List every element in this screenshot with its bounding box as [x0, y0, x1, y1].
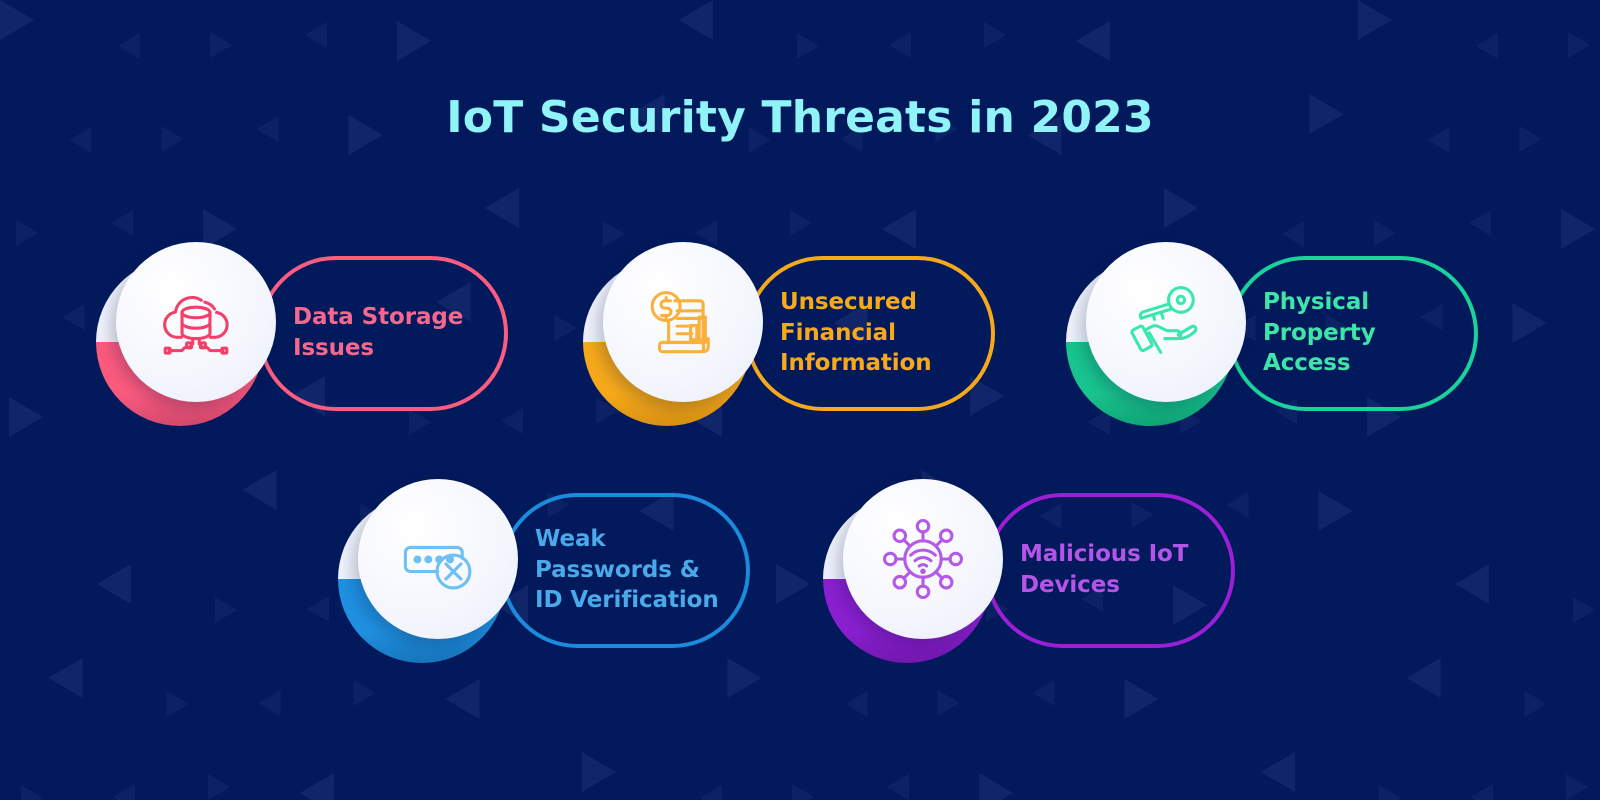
threat-card-icon-badge[interactable]	[116, 242, 276, 402]
threat-card-label-line: Malicious IoT	[1020, 539, 1220, 570]
hand-key-icon	[1119, 275, 1213, 369]
threat-card-physical-property-access[interactable]: PhysicalPropertyAccess	[1058, 238, 1478, 428]
threat-card-label-line: Property	[1263, 318, 1463, 349]
threat-card-label: Data StorageIssues	[293, 238, 493, 428]
threat-card-icon-badge[interactable]	[603, 242, 763, 402]
threat-card-icon-badge[interactable]	[358, 479, 518, 639]
threat-card-label: WeakPasswords &ID Verification	[535, 475, 735, 665]
threat-card-label-line: Devices	[1020, 570, 1220, 601]
threat-card-label-line: Access	[1263, 348, 1463, 379]
threat-card-label-line: Weak	[535, 524, 735, 555]
threat-card-label-line: Financial	[780, 318, 980, 349]
threat-card-label-line: Unsecured	[780, 287, 980, 318]
threat-card-unsecured-financial-information[interactable]: UnsecuredFinancialInformation	[575, 238, 995, 428]
threat-card-label-line: Issues	[293, 333, 493, 364]
threat-card-data-storage-issues[interactable]: Data StorageIssues	[88, 238, 508, 428]
iot-network-virus-icon	[876, 512, 970, 606]
dollar-document-chart-icon	[636, 275, 730, 369]
threat-card-label: UnsecuredFinancialInformation	[780, 238, 980, 428]
threat-card-weak-passwords-id-verification[interactable]: WeakPasswords &ID Verification	[330, 475, 750, 665]
threat-card-label-line: Passwords &	[535, 555, 735, 586]
threat-card-label: Malicious IoTDevices	[1020, 475, 1220, 665]
threat-card-label: PhysicalPropertyAccess	[1263, 238, 1463, 428]
threat-card-malicious-iot-devices[interactable]: Malicious IoTDevices	[815, 475, 1235, 665]
cloud-database-icon	[149, 275, 243, 369]
threat-card-label-line: Data Storage	[293, 302, 493, 333]
page-title: IoT Security Threats in 2023	[0, 92, 1600, 143]
threat-card-label-line: Physical	[1263, 287, 1463, 318]
threat-card-icon-badge[interactable]	[1086, 242, 1246, 402]
threat-card-label-line: ID Verification	[535, 585, 735, 616]
password-denied-icon	[391, 512, 485, 606]
threat-card-label-line: Information	[780, 348, 980, 379]
threat-card-icon-badge[interactable]	[843, 479, 1003, 639]
